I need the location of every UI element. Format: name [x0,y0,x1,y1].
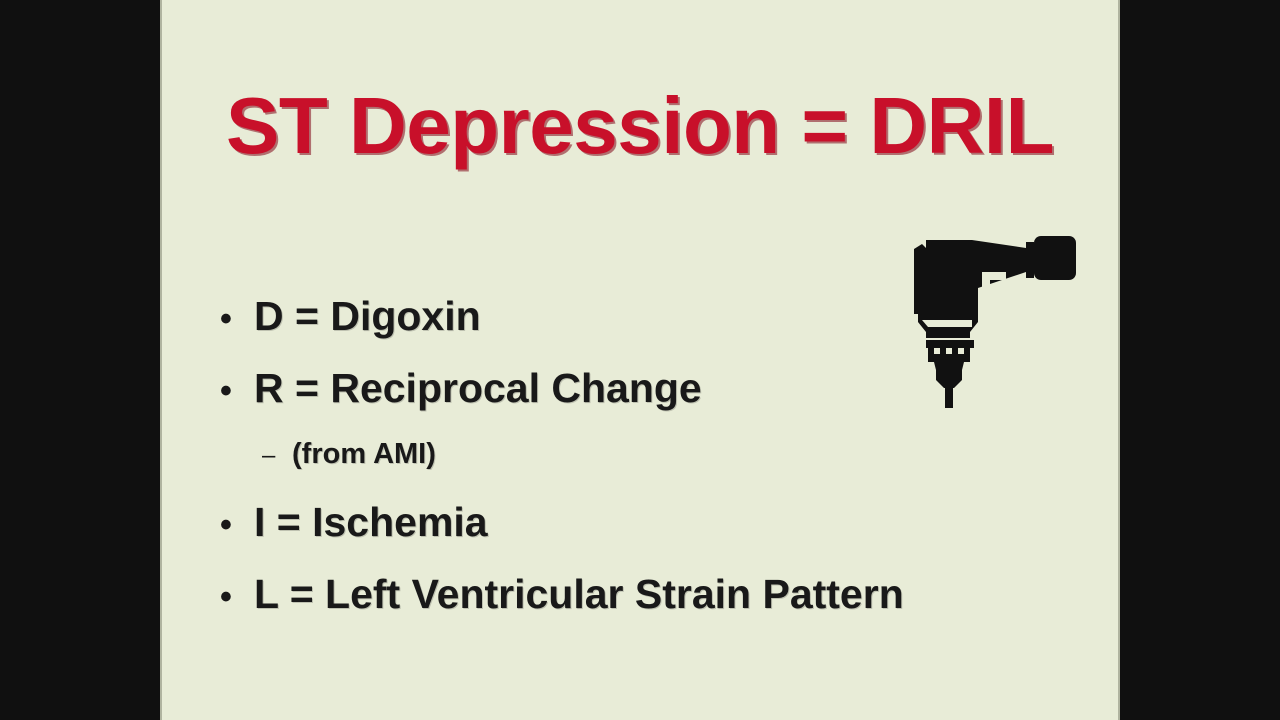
bullet-dot-icon: • [220,374,254,408]
bullet-dot-icon: • [220,508,254,542]
drill-icon [908,228,1083,408]
presentation-slide: ST Depression = DRIL • D = Digoxin • R =… [160,0,1120,720]
slide-title: ST Depression = DRIL [160,86,1120,166]
bullet-dash-icon: – [262,444,292,468]
list-item: • R = Reciprocal Change [220,368,1010,440]
sub-list-item: – (from AMI) [220,440,1010,502]
letterbox-bar-right [1120,0,1280,720]
list-item: • L = Left Ventricular Strain Pattern [220,574,1010,646]
bullet-dot-icon: • [220,302,254,336]
letterbox-bar-left [0,0,160,720]
list-item: • I = Ischemia [220,502,1010,574]
list-item-label: R = Reciprocal Change [254,368,1010,409]
slide-viewer: ST Depression = DRIL • D = Digoxin • R =… [0,0,1280,720]
list-item: • D = Digoxin [220,296,1010,368]
list-item-label: I = Ischemia [254,502,1010,543]
list-item-label: D = Digoxin [254,296,1010,337]
sub-list-item-label: (from AMI) [292,440,1010,469]
bullet-list: • D = Digoxin • R = Reciprocal Change – … [220,296,1010,646]
bullet-dot-icon: • [220,580,254,614]
list-item-label: L = Left Ventricular Strain Pattern [254,574,1010,615]
